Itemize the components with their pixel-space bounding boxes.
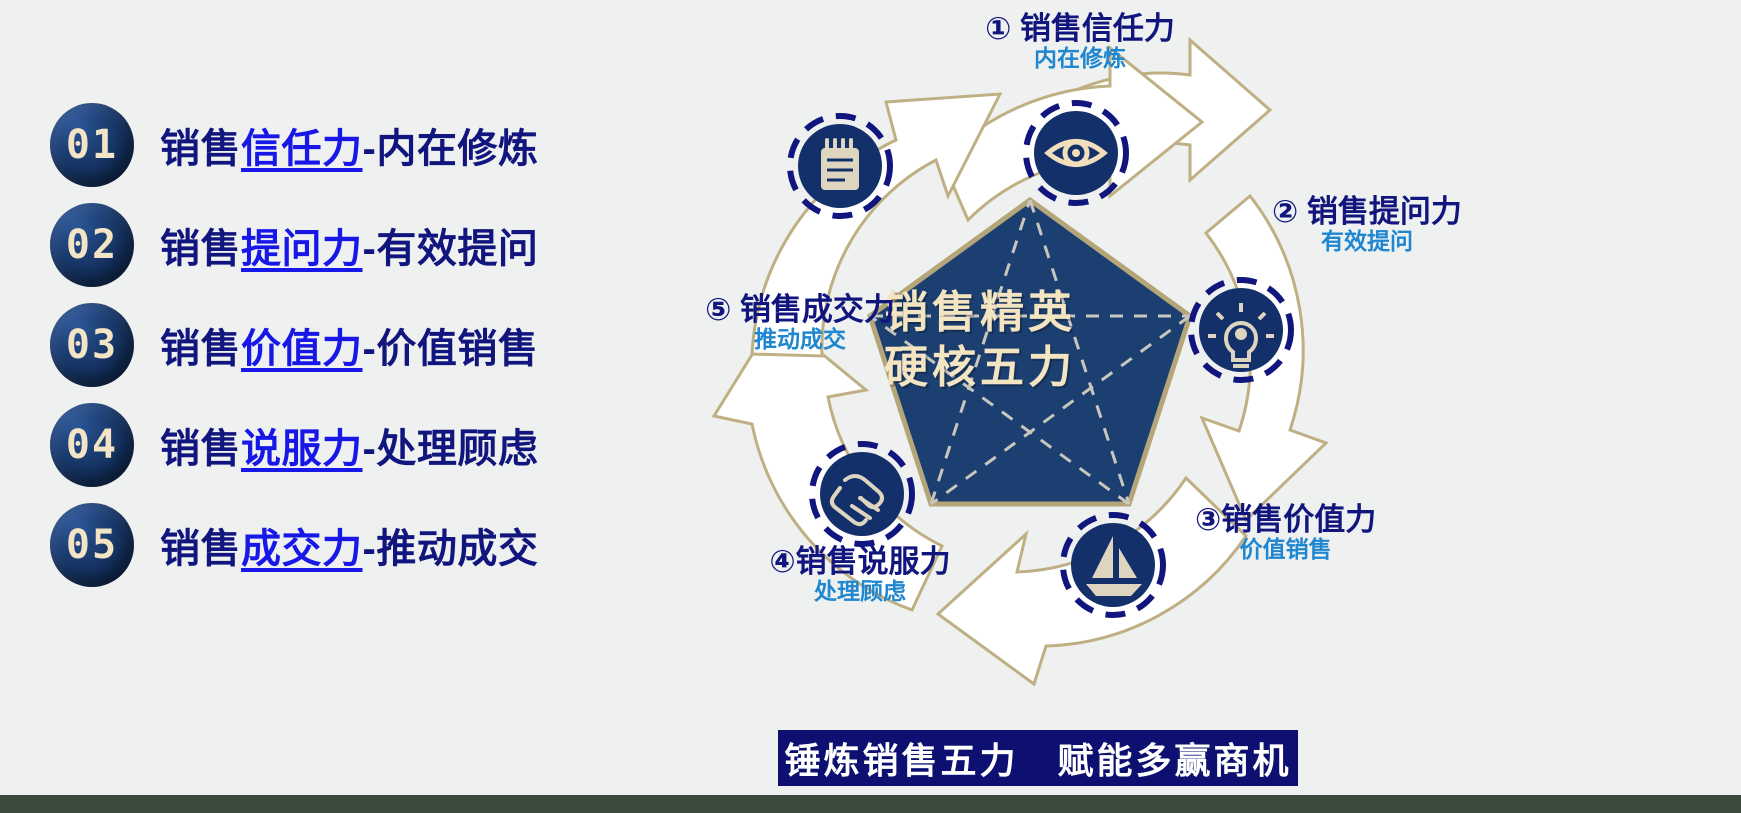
node-label-3: ③销售价值力 价值销售 — [1195, 503, 1376, 563]
list-item-dash: - — [363, 127, 377, 171]
list-item-text: 销售提问力-有效提问 — [160, 216, 538, 274]
list-item-text: 销售信任力-内在修炼 — [160, 116, 538, 174]
list-item-suffix: 有效提问 — [376, 227, 538, 271]
list-number: 02 — [66, 225, 118, 265]
node-label-1-title: ① 销售信任力 — [880, 12, 1280, 45]
node-label-5-title: ⑤ 销售成交力 — [660, 293, 940, 326]
node-label-2-title: ② 销售提问力 — [1272, 195, 1462, 228]
node-icon-2[interactable] — [1191, 280, 1291, 380]
five-powers-list: 01 销售信任力-内在修炼 02 销售提问力-有效提问 03 销售价值力-价值销… — [50, 95, 670, 595]
list-item-suffix: 价值销售 — [376, 327, 538, 371]
cycle-diagram: 销售精英 硬核五力 ① 销售信任力 内在修炼 ② 销售提问力 有效提问 ③销售价… — [690, 0, 1741, 760]
list-number: 04 — [66, 425, 118, 465]
list-item-dash: - — [363, 227, 377, 271]
list-item-text: 销售成交力-推动成交 — [160, 516, 538, 574]
list-item[interactable]: 05 销售成交力-推动成交 — [50, 495, 670, 595]
slide-canvas: 01 销售信任力-内在修炼 02 销售提问力-有效提问 03 销售价值力-价值销… — [0, 0, 1741, 813]
list-item-keyword: 成交力 — [241, 527, 363, 571]
list-item-dash: - — [363, 327, 377, 371]
node-label-3-title: ③销售价值力 — [1195, 503, 1376, 536]
page-bottom-strip — [0, 795, 1741, 813]
list-item-text: 销售价值力-价值销售 — [160, 316, 538, 374]
list-number: 01 — [66, 125, 118, 165]
list-number-badge: 05 — [50, 503, 134, 587]
list-item-keyword: 提问力 — [241, 227, 363, 271]
list-item-prefix: 销售 — [160, 327, 241, 371]
list-number: 05 — [66, 525, 118, 565]
list-item-prefix: 销售 — [160, 427, 241, 471]
list-number: 03 — [66, 325, 118, 365]
list-item-suffix: 推动成交 — [376, 527, 538, 571]
bottom-banner: 锤炼销售五力 赋能多赢商机 — [778, 730, 1298, 786]
list-item-suffix: 处理顾虑 — [376, 427, 538, 471]
node-label-1: ① 销售信任力 内在修炼 — [880, 12, 1280, 72]
list-item-dash: - — [363, 527, 377, 571]
node-label-2-sub: 有效提问 — [1272, 228, 1462, 254]
node-label-5: ⑤ 销售成交力 推动成交 — [660, 293, 940, 353]
node-label-4-sub: 处理顾虑 — [700, 578, 1020, 604]
list-item[interactable]: 02 销售提问力-有效提问 — [50, 195, 670, 295]
list-item[interactable]: 03 销售价值力-价值销售 — [50, 295, 670, 395]
list-item-keyword: 价值力 — [241, 327, 363, 371]
list-item-dash: - — [363, 427, 377, 471]
list-number-badge: 04 — [50, 403, 134, 487]
list-item[interactable]: 01 销售信任力-内在修炼 — [50, 95, 670, 195]
node-label-4-title: ④销售说服力 — [700, 545, 1020, 578]
list-item-suffix: 内在修炼 — [376, 127, 538, 171]
node-icon-5[interactable] — [790, 116, 890, 216]
node-label-4: ④销售说服力 处理顾虑 — [700, 545, 1020, 605]
node-label-5-sub: 推动成交 — [660, 326, 940, 352]
node-label-1-sub: 内在修炼 — [880, 45, 1280, 71]
node-label-3-sub: 价值销售 — [1195, 536, 1376, 562]
list-item-text: 销售说服力-处理顾虑 — [160, 416, 538, 474]
list-number-badge: 03 — [50, 303, 134, 387]
bottom-banner-text: 锤炼销售五力 赋能多赢商机 — [784, 732, 1291, 784]
list-item[interactable]: 04 销售说服力-处理顾虑 — [50, 395, 670, 495]
list-item-prefix: 销售 — [160, 227, 241, 271]
list-item-prefix: 销售 — [160, 527, 241, 571]
list-item-keyword: 说服力 — [241, 427, 363, 471]
node-label-2: ② 销售提问力 有效提问 — [1272, 195, 1462, 255]
list-item-keyword: 信任力 — [241, 127, 363, 171]
list-number-badge: 01 — [50, 103, 134, 187]
list-item-prefix: 销售 — [160, 127, 241, 171]
node-icon-3[interactable] — [1063, 515, 1163, 615]
list-number-badge: 02 — [50, 203, 134, 287]
